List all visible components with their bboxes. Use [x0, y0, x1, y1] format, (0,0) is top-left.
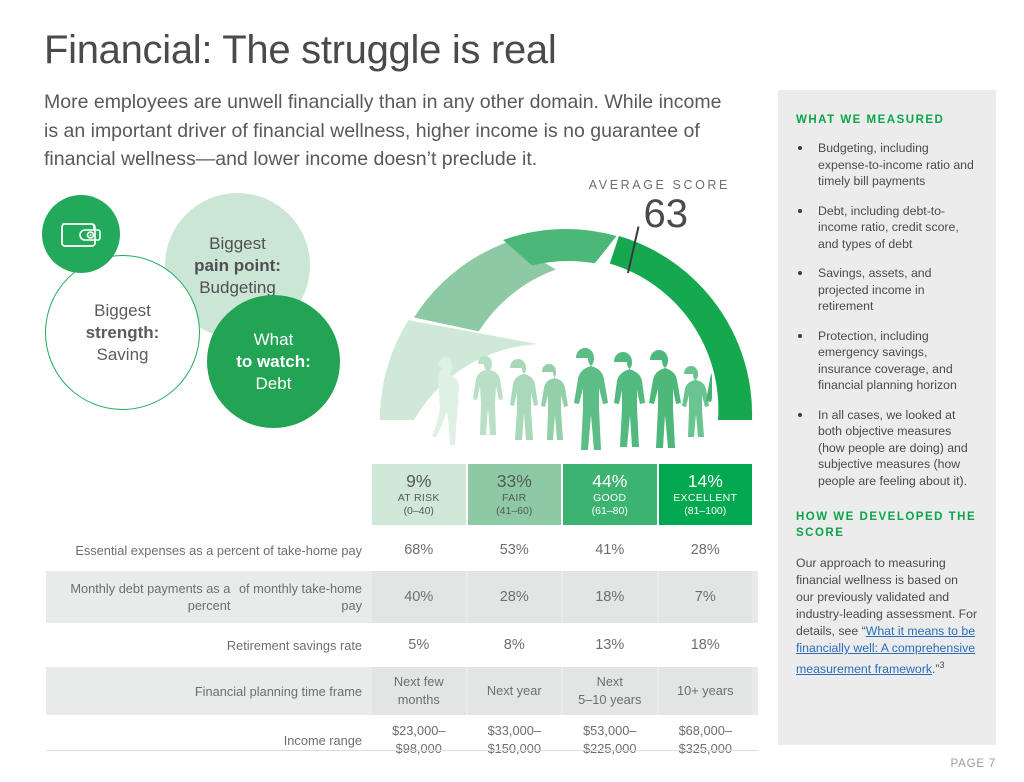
- score-band-at-risk: 9%AT RISK(0–40): [372, 464, 466, 525]
- sidebar-bullet-text: Protection, including emergency savings,…: [818, 329, 957, 393]
- table-row-cells: Next fewmonthsNext yearNext5–10 years10+…: [372, 667, 752, 715]
- table-cell: 13%: [563, 623, 657, 667]
- sidebar-paragraph-after: .”: [932, 662, 940, 676]
- sidebar-heading-how-we-developed: HOW WE DEVELOPED THE SCORE: [796, 509, 978, 541]
- circle-strength-line1: Biggest: [86, 300, 160, 322]
- score-band-good: 44%GOOD(61–80): [563, 464, 657, 525]
- circle-watch-line2: to watch:: [236, 351, 311, 373]
- sidebar-bullet-text: Debt, including debt-to-income ratio, cr…: [818, 204, 959, 251]
- bullet-dot-icon: [798, 413, 802, 417]
- table-cell: 18%: [563, 571, 657, 623]
- score-band-excellent: 14%EXCELLENT(81–100): [659, 464, 753, 525]
- table-cell: Next fewmonths: [372, 667, 466, 715]
- table-cell: 28%: [659, 529, 753, 571]
- table-cell: 7%: [659, 571, 753, 623]
- table-cell: 41%: [563, 529, 657, 571]
- score-band-name: EXCELLENT: [673, 492, 737, 505]
- table-bottom-rule: [46, 750, 758, 751]
- table-row-label: Income range: [46, 715, 372, 765]
- table-cell: 18%: [659, 623, 753, 667]
- page-subtitle: More employees are unwell financially th…: [44, 88, 724, 174]
- page-title: Financial: The struggle is real: [44, 28, 556, 73]
- table-cell: 40%: [372, 571, 466, 623]
- circle-watch-line3: Debt: [236, 373, 311, 395]
- page-number: PAGE 7: [951, 758, 997, 770]
- table-row-label: Essential expenses as a percent of take-…: [46, 529, 372, 571]
- table-row-cells: $23,000–$98,000$33,000–$150,000$53,000–$…: [372, 715, 752, 765]
- table-row: Financial planning time frameNext fewmon…: [46, 667, 758, 715]
- table-cell: $53,000–$225,000: [563, 715, 657, 765]
- bullet-dot-icon: [798, 271, 802, 275]
- score-band-range: (81–100): [684, 505, 726, 518]
- table-cell: 68%: [372, 529, 466, 571]
- sidebar-bullet-text: Savings, assets, and projected income in…: [818, 266, 931, 313]
- score-band-range: (0–40): [404, 505, 434, 518]
- circle-what-to-watch: What to watch: Debt: [207, 295, 340, 428]
- score-band-row: 9%AT RISK(0–40)33%FAIR(41–60)44%GOOD(61–…: [372, 464, 752, 525]
- table-row-cells: 68%53%41%28%: [372, 529, 752, 571]
- table-row: Retirement savings rate5%8%13%18%: [46, 623, 758, 667]
- table-row-label: Financial planning time frame: [46, 667, 372, 715]
- score-band-percent: 44%: [592, 471, 627, 492]
- circle-strength-line2: strength:: [86, 322, 160, 344]
- score-band-name: GOOD: [593, 492, 626, 505]
- table-cell: 8%: [468, 623, 562, 667]
- infographic-page: Financial: The struggle is real More emp…: [0, 0, 1024, 782]
- silhouette-group: [432, 348, 712, 454]
- table-row: Monthly debt payments as a percentof mon…: [46, 571, 758, 623]
- metrics-table: Essential expenses as a percent of take-…: [46, 529, 758, 765]
- key-findings-circles: Biggest pain point: Budgeting Biggest st…: [40, 185, 370, 455]
- sidebar-bullet-item: Debt, including debt-to-income ratio, cr…: [796, 203, 978, 253]
- circle-strength-line3: Saving: [86, 344, 160, 366]
- table-cell: Next year: [468, 667, 562, 715]
- table-cell: 5%: [372, 623, 466, 667]
- table-cell: 10+ years: [659, 667, 753, 715]
- sidebar-bullet-list: Budgeting, including expense-to-income r…: [796, 140, 978, 489]
- bullet-dot-icon: [798, 209, 802, 213]
- circle-watch-text: What to watch: Debt: [236, 329, 311, 395]
- sidebar-panel: WHAT WE MEASURED Budgeting, including ex…: [778, 90, 996, 745]
- wallet-icon: [42, 195, 120, 273]
- table-row-cells: 40%28%18%7%: [372, 571, 752, 623]
- table-row-cells: 5%8%13%18%: [372, 623, 752, 667]
- sidebar-paragraph: Our approach to measuring financial well…: [796, 555, 978, 678]
- circle-biggest-strength: Biggest strength: Saving: [45, 255, 200, 410]
- score-band-fair: 33%FAIR(41–60): [468, 464, 562, 525]
- score-band-percent: 9%: [406, 471, 431, 492]
- table-cell: $33,000–$150,000: [468, 715, 562, 765]
- table-row-label: Retirement savings rate: [46, 623, 372, 667]
- score-band-name: FAIR: [502, 492, 527, 505]
- table-cell: $68,000–$325,000: [659, 715, 753, 765]
- table-row: Income range$23,000–$98,000$33,000–$150,…: [46, 715, 758, 765]
- bullet-dot-icon: [798, 146, 802, 150]
- table-cell: $23,000–$98,000: [372, 715, 466, 765]
- table-cell: 28%: [468, 571, 562, 623]
- table-row: Essential expenses as a percent of take-…: [46, 529, 758, 571]
- score-band-name: AT RISK: [398, 492, 440, 505]
- bullet-dot-icon: [798, 334, 802, 338]
- score-band-range: (41–60): [496, 505, 532, 518]
- sidebar-bullet-item: Savings, assets, and projected income in…: [796, 265, 978, 315]
- score-band-percent: 14%: [688, 471, 723, 492]
- sidebar-bullet-item: Protection, including emergency savings,…: [796, 328, 978, 394]
- circle-watch-line1: What: [236, 329, 311, 351]
- gauge-label: AVERAGE SCORE: [589, 178, 730, 192]
- sidebar-bullet-text: In all cases, we looked at both objectiv…: [818, 408, 968, 488]
- sidebar-bullet-item: Budgeting, including expense-to-income r…: [796, 140, 978, 190]
- people-silhouettes: [422, 344, 712, 454]
- circle-pain-line2: pain point:: [194, 255, 281, 277]
- circle-pain-text: Biggest pain point: Budgeting: [194, 233, 281, 299]
- footnote-marker: 3: [940, 660, 945, 670]
- score-band-range: (61–80): [592, 505, 628, 518]
- average-score-gauge: AVERAGE SCORE 63: [370, 176, 762, 458]
- table-cell: Next5–10 years: [563, 667, 657, 715]
- table-row-label: Monthly debt payments as a percentof mon…: [46, 571, 372, 623]
- sidebar-bullet-item: In all cases, we looked at both objectiv…: [796, 407, 978, 490]
- circle-pain-line1: Biggest: [194, 233, 281, 255]
- sidebar-bullet-text: Budgeting, including expense-to-income r…: [818, 141, 974, 188]
- score-band-percent: 33%: [497, 471, 532, 492]
- circle-strength-text: Biggest strength: Saving: [86, 300, 160, 366]
- sidebar-heading-what-we-measured: WHAT WE MEASURED: [796, 112, 978, 128]
- table-cell: 53%: [468, 529, 562, 571]
